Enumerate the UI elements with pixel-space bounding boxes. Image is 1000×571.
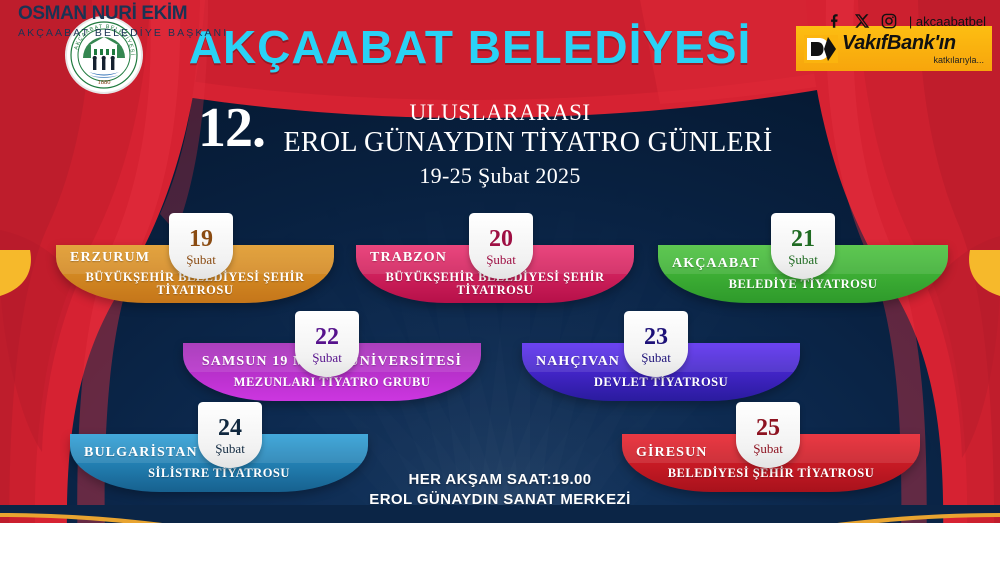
sponsor-tagline: katkılarıyla... <box>842 56 984 65</box>
festival-edition: 12. <box>198 96 265 160</box>
event-day: 23 <box>644 325 668 349</box>
event-company: MEZUNLARI TİYATRO GRUBU <box>183 376 481 389</box>
event-day: 19 <box>189 227 213 251</box>
event-month: Şubat <box>753 442 783 455</box>
sponsor-name: VakıfBank'ın <box>842 33 984 53</box>
event-day: 24 <box>218 416 242 440</box>
facebook-icon[interactable] <box>826 12 844 30</box>
sponsor-badge: VakıfBank'ın katkılarıyla... <box>796 26 992 71</box>
event-day: 21 <box>791 227 815 251</box>
mayor-role: AKÇAABAT BELEDİYE BAŞKANI <box>18 27 228 39</box>
event-date-badge: 24 Şubat <box>198 402 262 468</box>
event-date-badge: 23 Şubat <box>624 311 688 377</box>
x-twitter-icon[interactable] <box>853 12 871 30</box>
svg-text:1880: 1880 <box>98 79 111 86</box>
festival-kicker: ULUSLARARASI <box>0 98 1000 124</box>
event-card[interactable]: ERZURUM BÜYÜKŞEHİR BELEDİYESİ ŞEHİR TİYA… <box>56 245 334 303</box>
event-day: 22 <box>315 325 339 349</box>
curtain-tieback-right <box>956 250 1000 300</box>
event-month: Şubat <box>486 253 516 266</box>
festival-name: EROL GÜNAYDIN TİYATRO GÜNLERİ <box>0 129 1000 157</box>
event-date-badge: 22 Şubat <box>295 311 359 377</box>
mayor-name: OSMAN NURİ EKİM <box>18 4 228 25</box>
event-date-badge: 25 Şubat <box>736 402 800 468</box>
event-month: Şubat <box>788 253 818 266</box>
event-card[interactable]: SAMSUN 19 MAYIS ÜNİVERSİTESİ MEZUNLARI T… <box>183 343 481 401</box>
event-month: Şubat <box>641 351 671 364</box>
event-card[interactable]: NAHÇIVAN DEVLET TİYATROSU 23 Şubat <box>522 343 800 401</box>
event-card[interactable]: AKÇAABAT BELEDİYE TİYATROSU 21 Şubat <box>658 245 948 303</box>
show-time: HER AKŞAM SAAT:19.00 <box>0 470 1000 490</box>
vakifbank-logo-icon <box>804 35 838 63</box>
poster-canvas: 1880 AKÇAABAT BELEDİYESİ AKÇAABAT BELEDİ… <box>0 0 1000 571</box>
event-date-badge: 21 Şubat <box>771 213 835 279</box>
event-company: BELEDİYE TİYATROSU <box>658 278 948 291</box>
page-title: AKÇAABAT BELEDİYESİ <box>160 20 780 74</box>
event-month: Şubat <box>215 442 245 455</box>
event-day: 25 <box>756 416 780 440</box>
curtain-tieback-left <box>0 250 44 300</box>
event-date-badge: 19 Şubat <box>169 213 233 279</box>
instagram-icon[interactable] <box>880 12 898 30</box>
event-month: Şubat <box>186 253 216 266</box>
event-card[interactable]: TRABZON BÜYÜKŞEHİR BELEDİYESİ ŞEHİR TİYA… <box>356 245 634 303</box>
event-month: Şubat <box>312 351 342 364</box>
event-company: DEVLET TİYATROSU <box>522 376 800 389</box>
social-links[interactable]: | akcaabatbel <box>826 12 986 30</box>
footer-white-mask <box>0 511 1000 571</box>
event-date-badge: 20 Şubat <box>469 213 533 279</box>
festival-dates: 19-25 Şubat 2025 <box>0 163 1000 189</box>
event-day: 20 <box>489 227 513 251</box>
festival-title-block: 12. ULUSLARARASI EROL GÜNAYDIN TİYATRO G… <box>0 98 1000 189</box>
mayor-block: OSMAN NURİ EKİM AKÇAABAT BELEDİYE BAŞKAN… <box>18 4 228 39</box>
social-handle: | akcaabatbel <box>909 14 986 29</box>
